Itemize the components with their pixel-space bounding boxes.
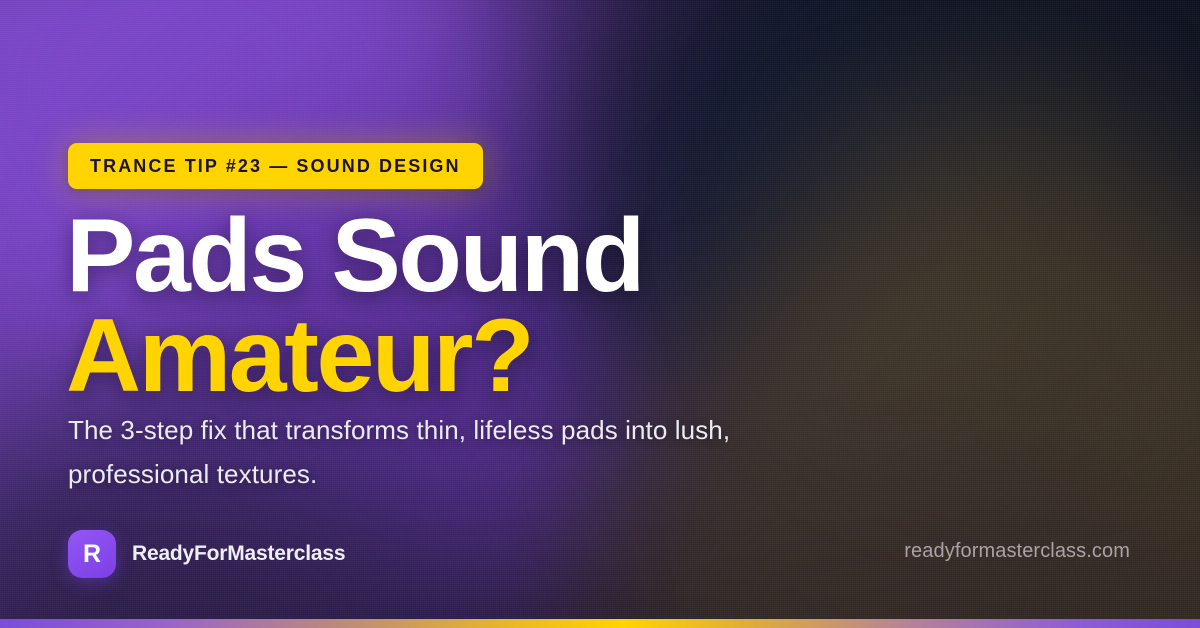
headline-line-1: Pads Sound	[66, 206, 643, 306]
subtitle: The 3-step fix that transforms thin, lif…	[68, 408, 828, 496]
bottom-accent-bar	[0, 619, 1200, 628]
headline-line-2: Amateur?	[66, 306, 643, 406]
brand-name: ReadyForMasterclass	[132, 542, 345, 566]
site-url: readyformasterclass.com	[904, 540, 1130, 563]
headline: Pads Sound Amateur?	[66, 206, 643, 406]
category-badge: TRANCE TIP #23 — SOUND DESIGN	[68, 143, 483, 189]
brand-logo-icon: R	[68, 530, 116, 578]
brand-lockup: R ReadyForMasterclass	[68, 530, 345, 578]
card-content: TRANCE TIP #23 — SOUND DESIGN Pads Sound…	[0, 0, 1200, 628]
social-promo-card: TRANCE TIP #23 — SOUND DESIGN Pads Sound…	[0, 0, 1200, 628]
